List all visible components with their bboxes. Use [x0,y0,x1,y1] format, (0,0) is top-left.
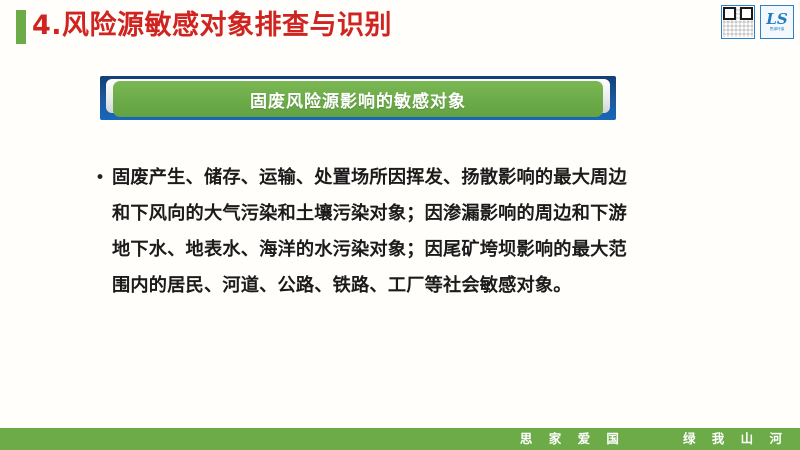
paragraph-line-4: 围内的居民、河道、公路、铁路、工厂等社会敏感对象。 [112,268,732,304]
banner-green-plate: 固废风险源影响的敏感对象 [113,81,603,117]
qr-code-pattern [723,7,753,37]
bullet-paragraph: 固废产生、储存、运输、处置场所因挥发、扬散影响的最大周边 和下风向的大气污染和土… [112,160,732,304]
title-accent-bar [16,10,26,44]
banner-title: 固废风险源影响的敏感对象 [250,87,466,112]
paragraph-line-3: 地下水、地表水、海洋的水污染对象；因尾矿垮坝影响的最大范 [112,232,732,268]
slide-root: 4.风险源敏感对象排查与识别 LS 思绿环保 固废风险源影响的敏感对象 • 固废… [0,0,800,450]
brand-mark-icon: LS [766,12,787,26]
brand-name-label: 思绿环保 [770,26,785,32]
qr-code-icon[interactable] [721,5,755,39]
slide-footer: 思 家 爱 国 绿 我 山 河 [0,428,800,450]
page-title: 4.风险源敏感对象排查与识别 [32,6,392,46]
paragraph-line-2: 和下风向的大气污染和土壤污染对象；因渗漏影响的周边和下游 [112,196,732,232]
bullet-item: • 固废产生、储存、运输、处置场所因挥发、扬散影响的最大周边 和下风向的大气污染… [92,160,732,304]
footer-slogan-right: 绿 我 山 河 [683,428,788,450]
section-banner: 固废风险源影响的敏感对象 [100,76,616,120]
logo-group: LS 思绿环保 [721,5,794,39]
brand-logo[interactable]: LS 思绿环保 [760,5,794,39]
content-block: • 固废产生、储存、运输、处置场所因挥发、扬散影响的最大周边 和下风向的大气污染… [92,160,732,304]
footer-slogan-left: 思 家 爱 国 [520,428,625,450]
bullet-marker-icon: • [92,160,112,196]
slide-header: 4.风险源敏感对象排查与识别 [0,0,800,56]
paragraph-line-1: 固废产生、储存、运输、处置场所因挥发、扬散影响的最大周边 [112,160,732,196]
